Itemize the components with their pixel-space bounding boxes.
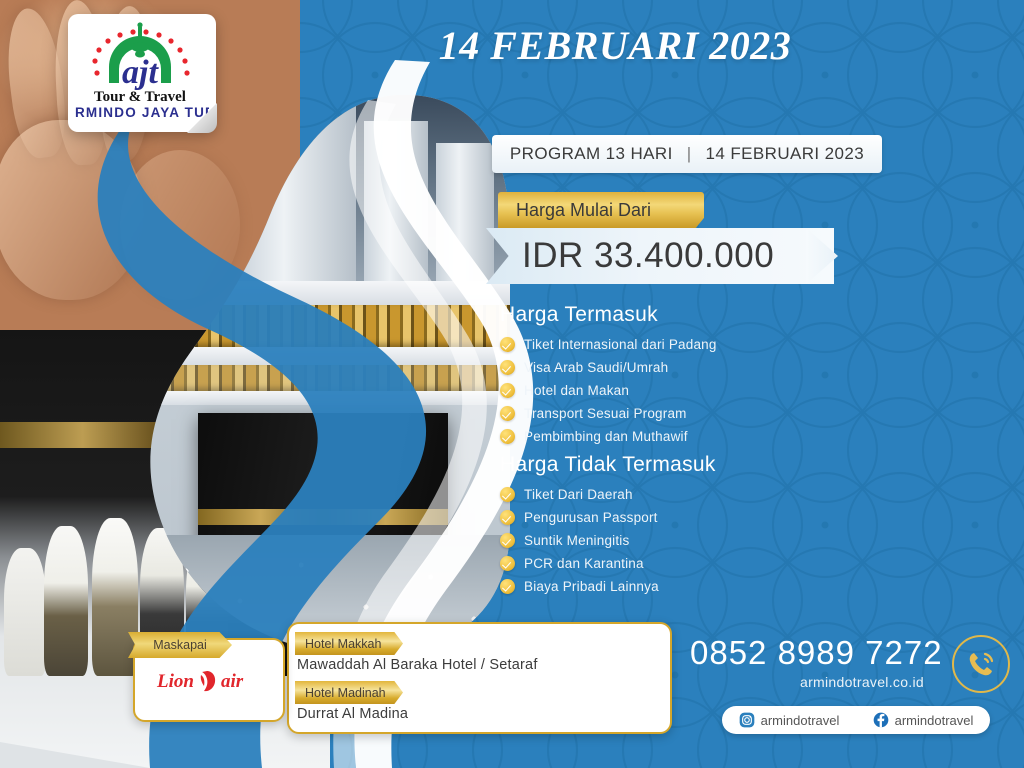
list-item-label: Visa Arab Saudi/Umrah xyxy=(524,360,668,375)
list-item-label: Pembimbing dan Muthawif xyxy=(524,429,688,444)
list-item-label: Tiket Internasional dari Padang xyxy=(524,337,717,352)
check-icon xyxy=(500,487,515,502)
website-url: armindotravel.co.id xyxy=(800,674,924,690)
list-item: PCR dan Karantina xyxy=(500,556,830,571)
svg-text:Lion: Lion xyxy=(156,671,194,692)
ajt-logo: ajt Tour & Travel ARMINDO JAYA TUR xyxy=(75,21,209,125)
svg-text:air: air xyxy=(221,671,244,692)
price-amount: IDR 33.400.000 xyxy=(522,236,774,276)
list-item: Pengurusan Passport xyxy=(500,510,830,525)
list-item: Hotel dan Makan xyxy=(500,383,830,398)
list-item: Visa Arab Saudi/Umrah xyxy=(500,360,830,375)
maskapai-tag: Maskapai xyxy=(128,632,232,658)
svg-text:Tour & Travel: Tour & Travel xyxy=(94,89,186,105)
list-item-label: Transport Sesuai Program xyxy=(524,406,687,421)
check-icon xyxy=(500,429,515,444)
check-icon xyxy=(500,337,515,352)
program-duration: PROGRAM 13 HARI xyxy=(510,144,673,164)
list-item-label: Suntik Meningitis xyxy=(524,533,629,548)
svg-text:ARMINDO JAYA TUR: ARMINDO JAYA TUR xyxy=(75,105,209,120)
list-item-label: Pengurusan Passport xyxy=(524,510,658,525)
hotel-madinah-tag: Hotel Madinah xyxy=(295,681,403,704)
instagram-handle: armindotravel xyxy=(761,713,840,728)
list-item: Tiket Internasional dari Padang xyxy=(500,337,830,352)
phone-number: 0852 8989 7272 xyxy=(690,634,943,672)
facebook-icon xyxy=(873,712,889,728)
check-icon xyxy=(500,406,515,421)
list-item-label: Tiket Dari Daerah xyxy=(524,487,633,502)
hotel-makkah-value: Mawaddah Al Baraka Hotel / Setaraf xyxy=(297,657,538,673)
svg-text:ajt: ajt xyxy=(122,54,159,91)
list-item: Suntik Meningitis xyxy=(500,533,830,548)
list-item-label: PCR dan Karantina xyxy=(524,556,644,571)
excluded-list: Harga Tidak Termasuk Tiket Dari Daerah P… xyxy=(500,453,830,602)
list-item: Tiket Dari Daerah xyxy=(500,487,830,502)
included-list: Harga Termasuk Tiket Internasional dari … xyxy=(500,303,830,452)
program-info-bar: PROGRAM 13 HARI | 14 FEBRUARI 2023 xyxy=(492,135,882,173)
social-media-pill: armindotravel armindotravel xyxy=(722,706,990,734)
price-banner: IDR 33.400.000 xyxy=(486,228,834,284)
check-icon xyxy=(500,360,515,375)
list-item: Pembimbing dan Muthawif xyxy=(500,429,830,444)
check-icon xyxy=(500,383,515,398)
lion-air-logo: Lion air xyxy=(155,665,263,695)
instagram-link[interactable]: armindotravel xyxy=(739,712,840,728)
program-date: 14 FEBRUARI 2023 xyxy=(706,144,865,164)
page-title: 14 FEBRUARI 2023 xyxy=(415,22,815,69)
facebook-handle: armindotravel xyxy=(895,713,974,728)
hotel-madinah-value: Durrat Al Madina xyxy=(297,706,408,722)
list-item: Biaya Pribadi Lainnya xyxy=(500,579,830,594)
program-separator: | xyxy=(687,144,692,164)
umrah-promo-poster: ajt Tour & Travel ARMINDO JAYA TUR 14 FE… xyxy=(0,0,1024,768)
excluded-title: Harga Tidak Termasuk xyxy=(500,453,830,477)
facebook-link[interactable]: armindotravel xyxy=(873,712,974,728)
company-logo-card: ajt Tour & Travel ARMINDO JAYA TUR xyxy=(68,14,216,132)
check-icon xyxy=(500,579,515,594)
instagram-icon xyxy=(739,712,755,728)
check-icon xyxy=(500,533,515,548)
phone-call-icon xyxy=(952,635,1010,693)
list-item-label: Hotel dan Makan xyxy=(524,383,629,398)
list-item: Transport Sesuai Program xyxy=(500,406,830,421)
price-label-ribbon: Harga Mulai Dari xyxy=(498,192,704,228)
hotel-makkah-tag: Hotel Makkah xyxy=(295,632,403,655)
included-title: Harga Termasuk xyxy=(500,303,830,327)
list-item-label: Biaya Pribadi Lainnya xyxy=(524,579,659,594)
check-icon xyxy=(500,556,515,571)
check-icon xyxy=(500,510,515,525)
